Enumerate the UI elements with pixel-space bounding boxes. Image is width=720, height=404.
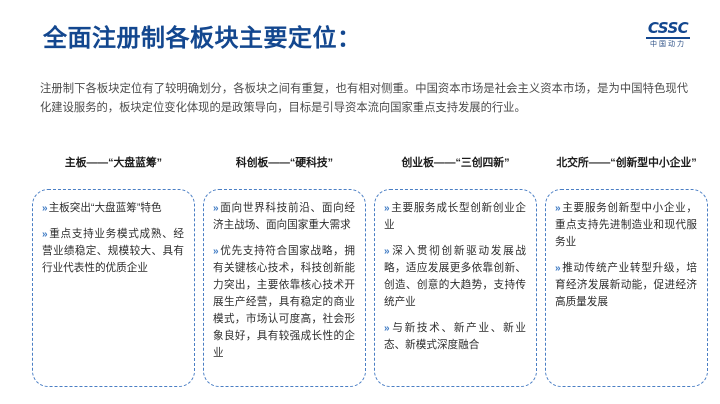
- list-item: »主板突出“大盘蓝筹”特色: [42, 200, 184, 217]
- list-item-text: 深入贯彻创新驱动发展战略，适应发展更多依靠创新、创造、创意的大趋势，支持传统产业: [384, 245, 526, 308]
- slide-header: 全面注册制各板块主要定位： CSSC 中国动力: [0, 0, 720, 70]
- list-item-text: 优先支持符合国家战略，拥有关键核心技术，科技创新能力突出，主要依靠核心技术开展生…: [213, 245, 355, 359]
- list-item: »深入贯彻创新驱动发展战略，适应发展更多依靠创新、创造、创意的大趋势，支持传统产…: [384, 243, 526, 311]
- cssc-logo: CSSC 中国动力: [632, 21, 704, 48]
- list-item: »优先支持符合国家战略，拥有关键核心技术，科技创新能力突出，主要依靠核心技术开展…: [213, 243, 355, 362]
- logo-subtitle: 中国动力: [632, 41, 704, 48]
- logo-wordmark: CSSC: [632, 21, 704, 36]
- column-heading: 主板——“大盘蓝筹”: [32, 155, 195, 189]
- bullet-chevron-icon: »: [384, 323, 389, 334]
- column-heading: 北交所——“创新型中小企业”: [545, 155, 708, 189]
- column-star-market: 科创板——“硬科技” »面向世界科技前沿、面向经济主战场、面向国家重大需求 »优…: [203, 155, 366, 387]
- board-columns: 主板——“大盘蓝筹” »主板突出“大盘蓝筹”特色 »重点支持业务模式成熟、经营业…: [32, 155, 708, 387]
- list-item: »面向世界科技前沿、面向经济主战场、面向国家重大需求: [213, 200, 355, 234]
- list-item-text: 重点支持业务模式成熟、经营业绩稳定、规模较大、具有行业代表性的优质企业: [42, 228, 184, 274]
- list-item: »主要服务创新型中小企业，重点支持先进制造业和现代服务业: [555, 200, 697, 251]
- column-body: »主要服务成长型创新创业企业 »深入贯彻创新驱动发展战略，适应发展更多依靠创新、…: [374, 189, 537, 387]
- list-item-text: 与新技术、新产业、新业态、新模式深度融合: [384, 322, 526, 351]
- list-item-text: 主要服务成长型创新创业企业: [384, 202, 526, 231]
- bullet-chevron-icon: »: [555, 263, 560, 274]
- column-heading: 创业板——“三创四新”: [374, 155, 537, 189]
- page-title: 全面注册制各板块主要定位：: [43, 18, 362, 53]
- bullet-chevron-icon: »: [384, 246, 389, 257]
- column-bse: 北交所——“创新型中小企业” »主要服务创新型中小企业，重点支持先进制造业和现代…: [545, 155, 708, 387]
- list-item: »与新技术、新产业、新业态、新模式深度融合: [384, 320, 526, 354]
- list-item: »重点支持业务模式成熟、经营业绩稳定、规模较大、具有行业代表性的优质企业: [42, 226, 184, 277]
- list-item-text: 推动传统产业转型升级，培育经济发展新动能，促进经济高质量发展: [555, 262, 697, 308]
- bullet-chevron-icon: »: [555, 203, 560, 214]
- list-item-text: 主板突出“大盘蓝筹”特色: [49, 202, 162, 214]
- bullet-chevron-icon: »: [213, 203, 218, 214]
- list-item-text: 主要服务创新型中小企业，重点支持先进制造业和现代服务业: [555, 202, 697, 248]
- column-body: »面向世界科技前沿、面向经济主战场、面向国家重大需求 »优先支持符合国家战略，拥…: [203, 189, 366, 387]
- logo-divider: [646, 37, 690, 39]
- bullet-chevron-icon: »: [384, 203, 389, 214]
- list-item-text: 面向世界科技前沿、面向经济主战场、面向国家重大需求: [213, 202, 355, 231]
- bullet-chevron-icon: »: [213, 246, 218, 257]
- bullet-chevron-icon: »: [42, 203, 47, 214]
- list-item: »主要服务成长型创新创业企业: [384, 200, 526, 234]
- column-heading: 科创板——“硬科技”: [203, 155, 366, 189]
- column-main-board: 主板——“大盘蓝筹” »主板突出“大盘蓝筹”特色 »重点支持业务模式成熟、经营业…: [32, 155, 195, 387]
- column-body: »主要服务创新型中小企业，重点支持先进制造业和现代服务业 »推动传统产业转型升级…: [545, 189, 708, 387]
- column-body: »主板突出“大盘蓝筹”特色 »重点支持业务模式成熟、经营业绩稳定、规模较大、具有…: [32, 189, 195, 387]
- list-item: »推动传统产业转型升级，培育经济发展新动能，促进经济高质量发展: [555, 260, 697, 311]
- column-chinext: 创业板——“三创四新” »主要服务成长型创新创业企业 »深入贯彻创新驱动发展战略…: [374, 155, 537, 387]
- bullet-chevron-icon: »: [42, 229, 47, 240]
- intro-paragraph: 注册制下各板块定位有了较明确划分，各板块之间有重复，也有相对侧重。中国资本市场是…: [40, 80, 688, 118]
